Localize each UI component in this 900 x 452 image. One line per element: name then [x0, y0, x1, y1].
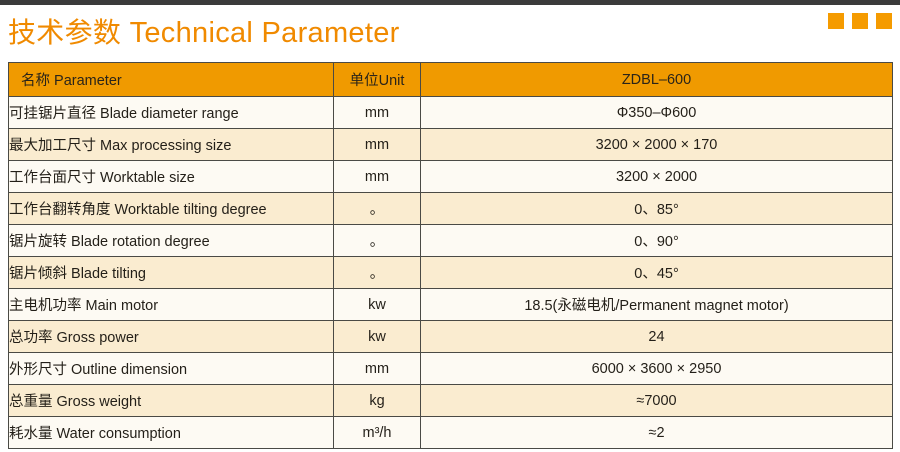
corner-square-2 [852, 13, 868, 29]
cell-unit: kw [334, 289, 421, 321]
cell-parameter: 工作台翻转角度 Worktable tilting degree [9, 193, 334, 225]
cell-parameter: 总重量 Gross weight [9, 385, 334, 417]
table-row: 耗水量 Water consumptionm³/h≈2 [9, 417, 893, 449]
cell-parameter: 可挂锯片直径 Blade diameter range [9, 97, 334, 129]
cell-unit: kg [334, 385, 421, 417]
column-header-model: ZDBL–600 [421, 63, 893, 97]
cell-value: 3200 × 2000 × 170 [421, 129, 893, 161]
cell-value: 24 [421, 321, 893, 353]
corner-square-decoration [828, 13, 892, 29]
table-row: 锯片旋转 Blade rotation degree。0、90° [9, 225, 893, 257]
table-header-row: 名称 Parameter 单位Unit ZDBL–600 [9, 63, 893, 97]
table-row: 工作台面尺寸 Worktable sizemm3200 × 2000 [9, 161, 893, 193]
cell-unit: 。 [334, 225, 421, 257]
cell-unit: kw [334, 321, 421, 353]
table-body: 可挂锯片直径 Blade diameter rangemmΦ350–Φ600最大… [9, 97, 893, 449]
corner-square-1 [828, 13, 844, 29]
cell-unit: mm [334, 129, 421, 161]
cell-value: 18.5(永磁电机/Permanent magnet motor) [421, 289, 893, 321]
cell-unit: 。 [334, 193, 421, 225]
cell-value: 0、45° [421, 257, 893, 289]
cell-parameter: 最大加工尺寸 Max processing size [9, 129, 334, 161]
table-row: 工作台翻转角度 Worktable tilting degree。0、85° [9, 193, 893, 225]
table-row: 主电机功率 Main motorkw18.5(永磁电机/Permanent ma… [9, 289, 893, 321]
table-header: 名称 Parameter 单位Unit ZDBL–600 [9, 63, 893, 97]
technical-parameter-table: 名称 Parameter 单位Unit ZDBL–600 可挂锯片直径 Blad… [8, 62, 893, 449]
cell-unit: mm [334, 97, 421, 129]
page-title-english: Technical Parameter [130, 17, 400, 49]
cell-value: 6000 × 3600 × 2950 [421, 353, 893, 385]
cell-unit: mm [334, 161, 421, 193]
table-row: 外形尺寸 Outline dimensionmm6000 × 3600 × 29… [9, 353, 893, 385]
corner-square-3 [876, 13, 892, 29]
cell-parameter: 主电机功率 Main motor [9, 289, 334, 321]
column-header-unit: 单位Unit [334, 63, 421, 97]
cell-value: ≈7000 [421, 385, 893, 417]
cell-value: 3200 × 2000 [421, 161, 893, 193]
cell-value: ≈2 [421, 417, 893, 449]
table-row: 总功率 Gross powerkw24 [9, 321, 893, 353]
cell-parameter: 外形尺寸 Outline dimension [9, 353, 334, 385]
table-row: 最大加工尺寸 Max processing sizemm3200 × 2000 … [9, 129, 893, 161]
table-row: 可挂锯片直径 Blade diameter rangemmΦ350–Φ600 [9, 97, 893, 129]
table-row: 总重量 Gross weightkg≈7000 [9, 385, 893, 417]
cell-parameter: 锯片倾斜 Blade tilting [9, 257, 334, 289]
cell-parameter: 总功率 Gross power [9, 321, 334, 353]
column-header-parameter: 名称 Parameter [9, 63, 334, 97]
top-decorative-bar [0, 0, 900, 5]
cell-unit: m³/h [334, 417, 421, 449]
page-title: 技术参数 Technical Parameter [8, 16, 400, 50]
cell-parameter: 锯片旋转 Blade rotation degree [9, 225, 334, 257]
cell-parameter: 耗水量 Water consumption [9, 417, 334, 449]
cell-value: 0、90° [421, 225, 893, 257]
cell-unit: mm [334, 353, 421, 385]
table-row: 锯片倾斜 Blade tilting。0、45° [9, 257, 893, 289]
cell-unit: 。 [334, 257, 421, 289]
cell-parameter: 工作台面尺寸 Worktable size [9, 161, 334, 193]
page-title-chinese: 技术参数 [8, 16, 121, 49]
cell-value: 0、85° [421, 193, 893, 225]
cell-value: Φ350–Φ600 [421, 97, 893, 129]
